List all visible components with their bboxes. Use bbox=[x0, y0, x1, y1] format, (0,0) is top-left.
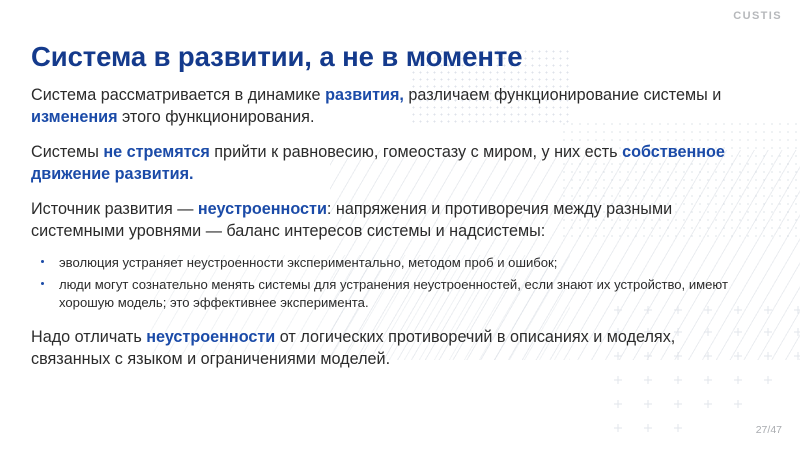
bullet-list: эволюция устраняет неустроенности экспер… bbox=[31, 254, 771, 312]
paragraph-2: Системы не стремятся прийти к равновесию… bbox=[31, 141, 749, 185]
list-item: эволюция устраняет неустроенности экспер… bbox=[31, 254, 759, 272]
list-item-label: люди могут сознательно менять системы дл… bbox=[59, 277, 728, 310]
text-run: Системы bbox=[31, 143, 103, 161]
page-number: 27/47 bbox=[756, 424, 782, 436]
custis-logo: CUSTIS bbox=[733, 10, 782, 22]
text-run: различаем функционирование системы и bbox=[404, 86, 721, 104]
slide: CUSTIS Система в развитии, а не в момент… bbox=[0, 0, 800, 450]
paragraph-4: Надо отличать неустроенности от логическ… bbox=[31, 326, 749, 370]
bullet-dot-icon bbox=[41, 260, 44, 263]
accent-text-izmeneniya: изменения bbox=[31, 108, 118, 126]
accent-text-neustroennosti: неустроенности bbox=[198, 200, 327, 218]
accent-text-neustroennosti-2: неустроенности bbox=[146, 328, 275, 346]
text-run: Надо отличать bbox=[31, 328, 146, 346]
accent-text-razvitiya: развития, bbox=[325, 86, 404, 104]
text-run: Источник развития — bbox=[31, 200, 198, 218]
list-item-label: эволюция устраняет неустроенности экспер… bbox=[59, 255, 557, 270]
text-run: прийти к равновесию, гомеостазу с миром,… bbox=[210, 143, 622, 161]
text-run: этого функционирования. bbox=[118, 108, 315, 126]
bullet-dot-icon bbox=[41, 282, 44, 285]
text-run: Система рассматривается в динамике bbox=[31, 86, 325, 104]
paragraph-3: Источник развития — неустроенности: напр… bbox=[31, 198, 749, 242]
list-item: люди могут сознательно менять системы дл… bbox=[31, 276, 759, 312]
paragraph-1: Система рассматривается в динамике разви… bbox=[31, 84, 749, 128]
page-title: Система в развитии, а не в моменте bbox=[31, 41, 522, 73]
accent-text-ne-stremyatsya: не стремятся bbox=[103, 143, 209, 161]
slide-content: Система рассматривается в динамике разви… bbox=[31, 84, 771, 383]
